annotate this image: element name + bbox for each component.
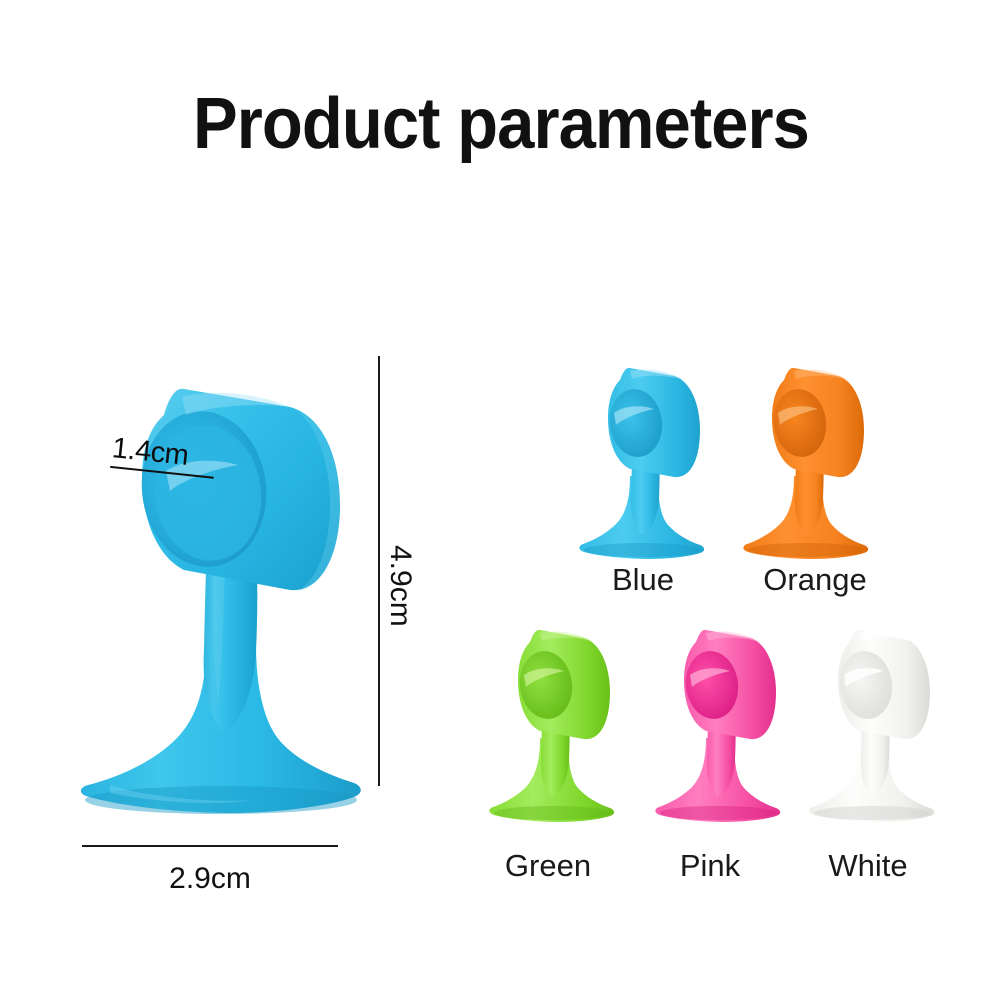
variant-label-orange: Orange (715, 562, 915, 598)
variant-image-pink (654, 618, 784, 823)
dimension-width-label: 2.9cm (82, 862, 338, 896)
main-product-image-blue (58, 345, 388, 845)
variant-image-orange (742, 358, 872, 558)
variant-image-white (808, 618, 938, 823)
dimension-height-label: 4.9cm (383, 545, 417, 627)
page-title: Product parameters (35, 88, 967, 160)
variant-image-blue (578, 358, 708, 558)
variant-label-white: White (768, 848, 968, 884)
dimension-height-line (378, 356, 380, 786)
variant-label-blue: Blue (543, 562, 743, 598)
variant-image-green (488, 618, 618, 823)
product-parameters-infographic: Product parameters (0, 0, 1002, 1002)
dimension-width-line (82, 845, 338, 847)
